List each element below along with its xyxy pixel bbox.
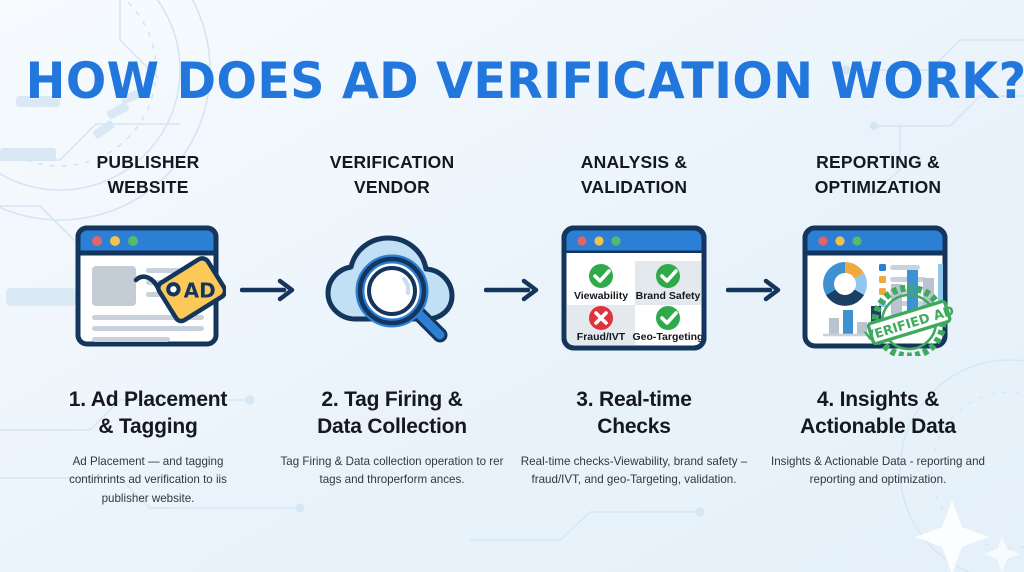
column-header-2: VERIFICATION VENDOR (268, 150, 516, 206)
step-title-4-line2: Actionable Data (800, 415, 956, 438)
step-body-1: Ad Placement — and tagging contiṁrints a… (24, 453, 272, 509)
infographic-canvas: HOW DOES AD VERIFICATION WORK? PUBLISHER… (0, 0, 1024, 572)
column-header-1-line1: PUBLISHER (97, 152, 200, 172)
column-header-1: PUBLISHER WEBSITE (24, 150, 272, 206)
reporting-dashboard-with-stamp-icon: VERIFIED AD (754, 214, 1002, 364)
check-label-viewability: Viewability (574, 290, 628, 302)
step-body-4: Insights & Actionable Data - reporting a… (754, 453, 1002, 491)
page-title: HOW DOES AD VERIFICATION WORK? (26, 52, 999, 110)
step-title-2: 2. Tag Firing & Data Collection (268, 386, 516, 441)
step-title-1-line2: & Tagging (98, 415, 197, 438)
column-header-3: ANALYSIS & VALIDATION (510, 150, 758, 206)
step-body-3: Real-time checks-Viewability, brand safe… (510, 453, 758, 491)
step-body-2: Tag Firing & Data collection operation t… (268, 453, 516, 491)
step-title-1: 1. Ad Placement & Tagging (24, 386, 272, 441)
browser-window-with-ad-tag-icon: AD (24, 214, 272, 364)
column-header-3-line1: ANALYSIS & (581, 152, 687, 172)
step-column-4: REPORTING & OPTIMIZATION (754, 150, 1002, 490)
column-header-2-line2: VENDOR (354, 177, 430, 197)
step-title-3-line2: Checks (597, 415, 671, 438)
step-title-4: 4. Insights & Actionable Data (754, 386, 1002, 441)
check-label-geo-targeting: Geo-Targeting (633, 331, 704, 343)
check-label-brand-safety: Brand Safety (636, 290, 701, 302)
column-header-4-line1: REPORTING & (816, 152, 940, 172)
cloud-with-magnifier-icon (268, 214, 516, 364)
step-title-2-line1: 2. Tag Firing & (321, 388, 462, 411)
step-title-3: 3. Real-time Checks (510, 386, 758, 441)
column-header-4: REPORTING & OPTIMIZATION (754, 150, 1002, 206)
column-header-3-line2: VALIDATION (581, 177, 687, 197)
step-column-2: VERIFICATION VENDOR 2. Tag Firing & Data… (268, 150, 516, 490)
step-column-1: PUBLISHER WEBSITE (24, 150, 272, 509)
step-column-3: ANALYSIS & VALIDATION (510, 150, 758, 490)
step-title-2-line2: Data Collection (317, 415, 467, 438)
step-title-3-line1: 3. Real-time (576, 388, 691, 411)
column-header-1-line2: WEBSITE (107, 177, 188, 197)
step-title-1-line1: 1. Ad Placement (69, 388, 227, 411)
column-header-4-line2: OPTIMIZATION (815, 177, 942, 197)
arrow-step1-to-step2 (240, 276, 300, 304)
arrow-step3-to-step4 (726, 276, 786, 304)
check-label-fraud-ivt: Fraud/IVT (577, 331, 626, 343)
step-title-4-line1: 4. Insights & (817, 388, 939, 411)
svg-text:AD: AD (184, 279, 216, 303)
arrow-step2-to-step3 (484, 276, 544, 304)
column-header-2-line1: VERIFICATION (330, 152, 455, 172)
checks-dashboard-icon: Viewability Brand Safety Fraud/IVT Geo-T… (510, 214, 758, 364)
